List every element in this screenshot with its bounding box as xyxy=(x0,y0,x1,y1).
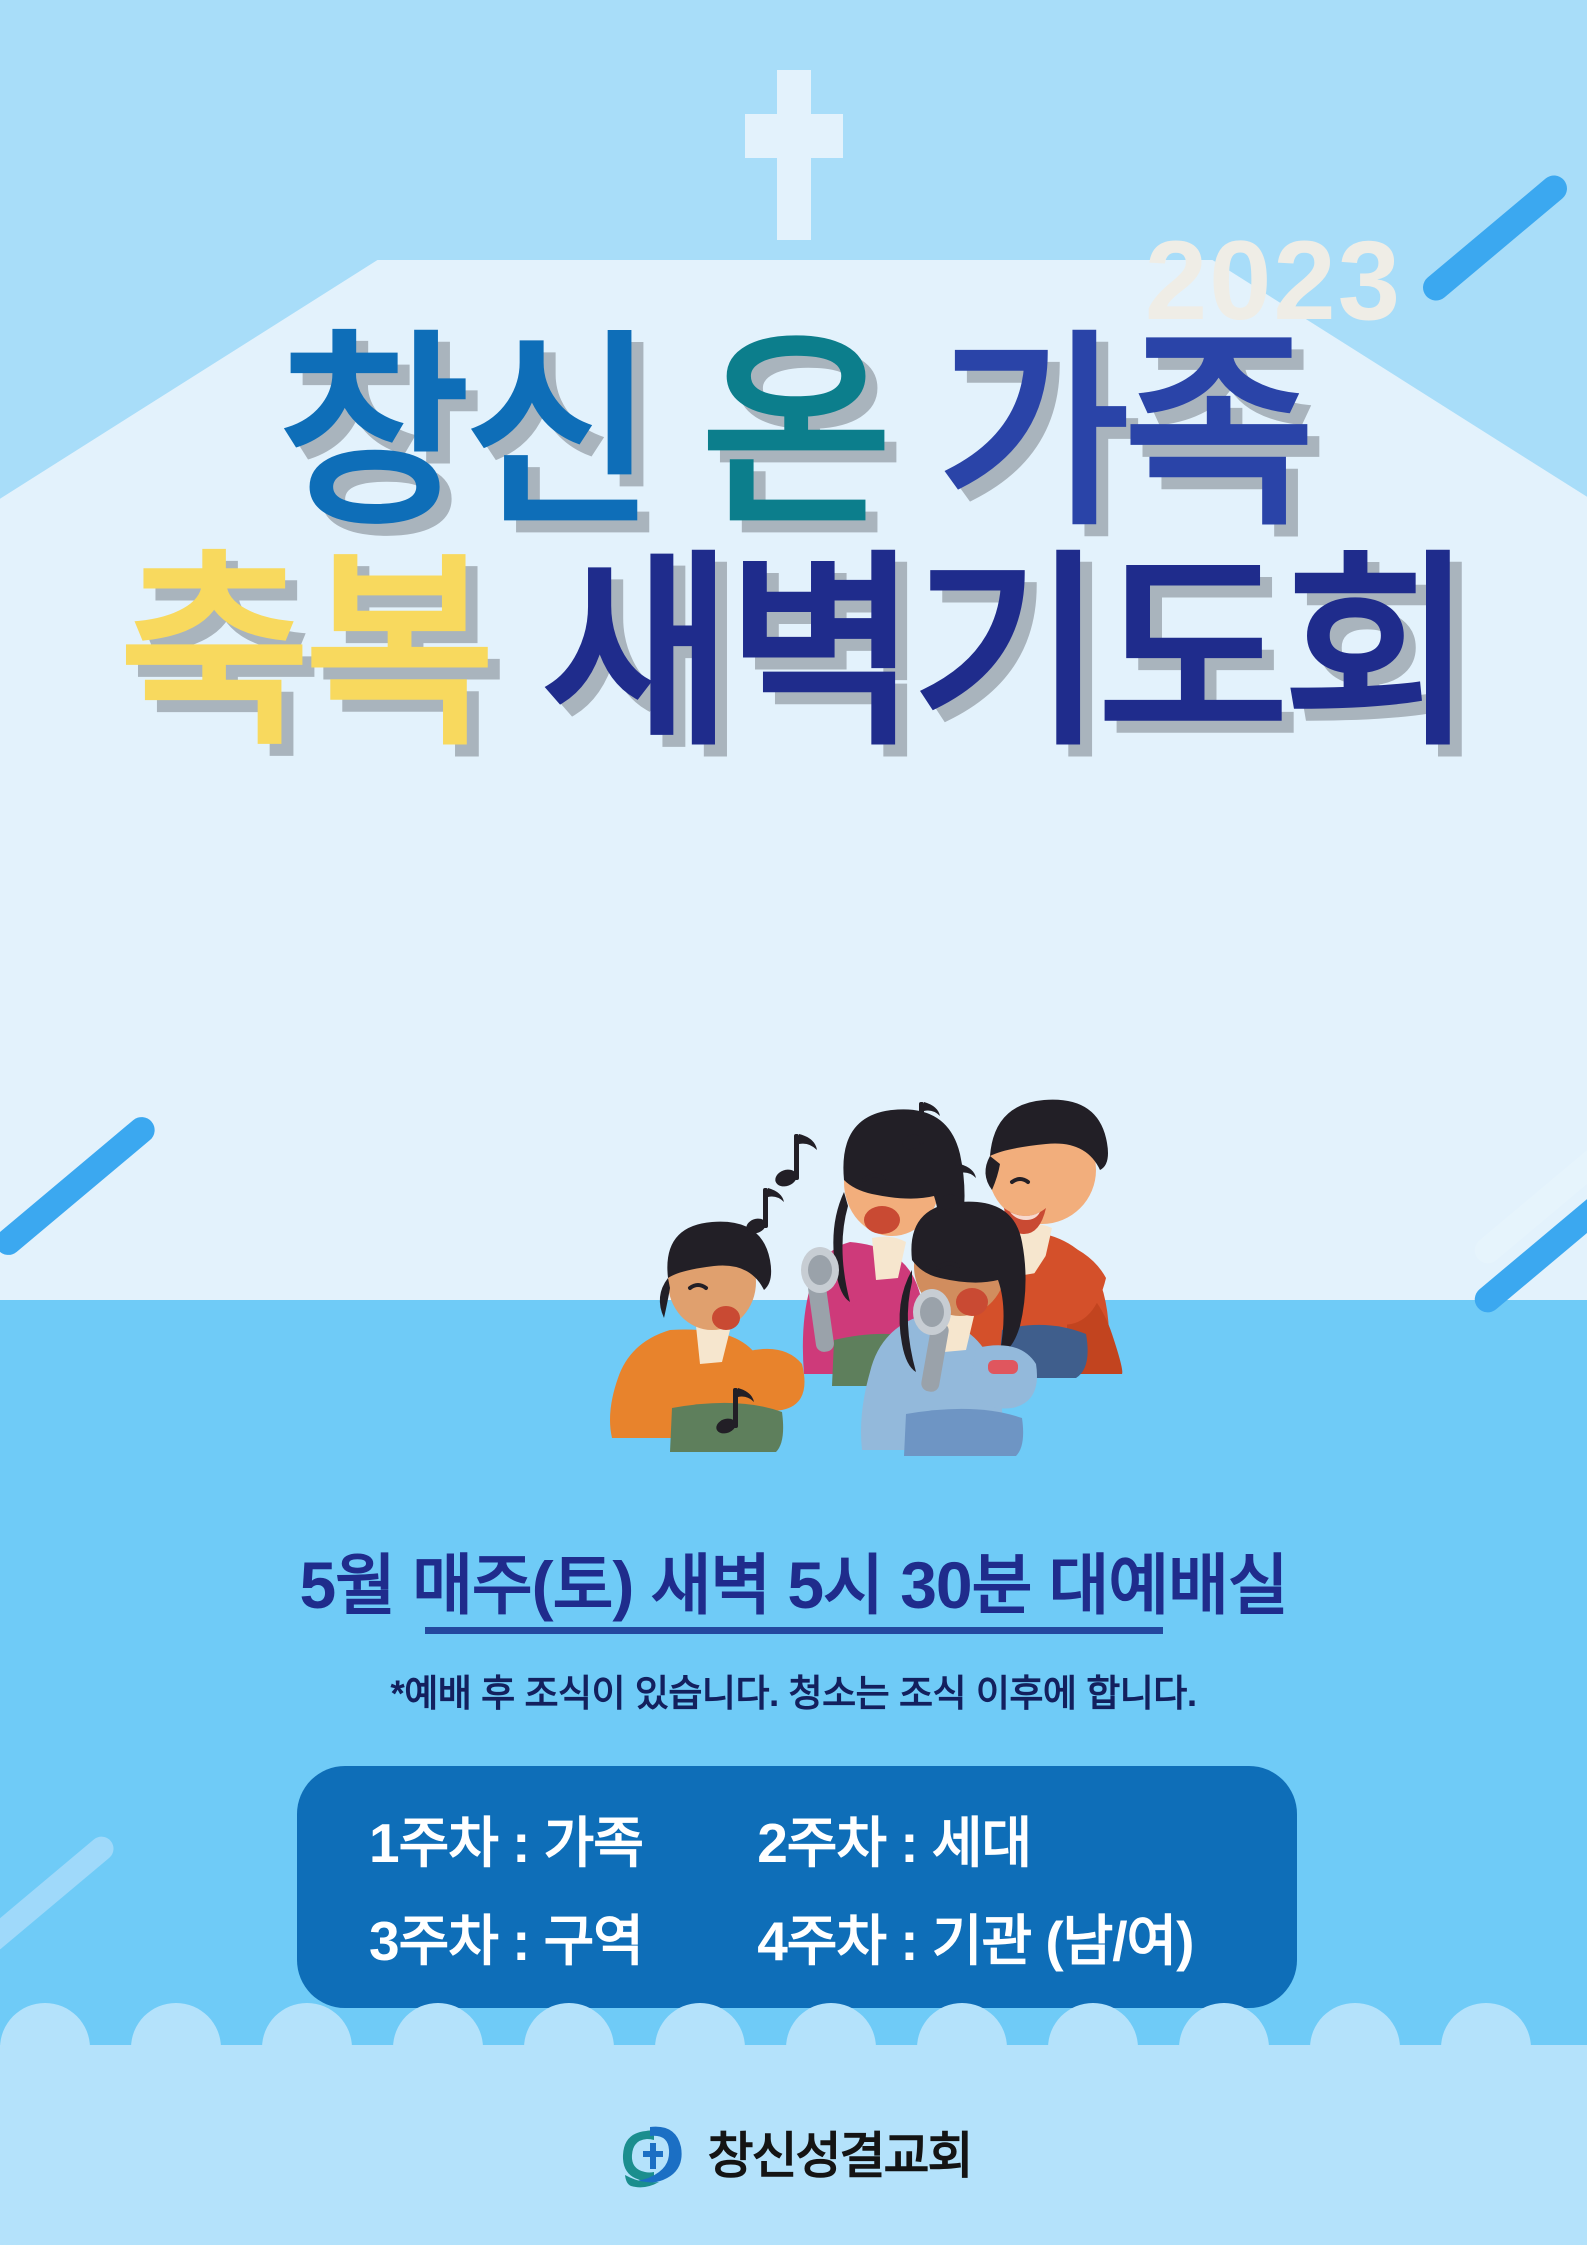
family-singing-illustration xyxy=(420,1030,1180,1460)
schedule-week-4: 4주차 : 기관 (남/여) xyxy=(757,1896,1225,1976)
title-part-on: 온 xyxy=(701,318,886,550)
schedule-week-1: 1주차 : 가족 xyxy=(369,1798,757,1878)
scallop-bump xyxy=(393,2003,483,2049)
page-title: 창신 온 가족 축복 새벽기도회 xyxy=(0,330,1587,758)
poster-canvas: 2023 창신 온 가족 축복 새벽기도회 xyxy=(0,0,1587,2245)
event-note: *예배 후 조식이 있습니다. 청소는 조식 이후에 합니다. xyxy=(0,1663,1587,1717)
title-part-saebyeok: 새벽기도회 xyxy=(541,538,1468,770)
title-line-1: 창신 온 가족 xyxy=(0,330,1587,538)
decorative-stripe xyxy=(1418,170,1573,306)
schedule-row: 1주차 : 가족 2주차 : 세대 xyxy=(369,1789,1225,1887)
scallop-bump xyxy=(0,2003,90,2049)
scallop-bump xyxy=(1179,2003,1269,2049)
title-part-changsin: 창신 xyxy=(278,318,649,550)
scallop-bump xyxy=(262,2003,352,2049)
event-datetime: 5월 매주(토) 새벽 5시 30분 대예배실 xyxy=(0,1532,1587,1628)
scallop-bump xyxy=(1441,2003,1531,2049)
scallop-bump xyxy=(131,2003,221,2049)
scallop-edge xyxy=(0,2003,1587,2049)
schedule-row: 3주차 : 구역 4주차 : 기관 (남/여) xyxy=(369,1887,1225,1985)
schedule-week-2: 2주차 : 세대 xyxy=(757,1798,1225,1878)
church-name: 창신성결교회 xyxy=(708,2131,972,2181)
schedule-week-3: 3주차 : 구역 xyxy=(369,1896,757,1976)
scallop-bump xyxy=(524,2003,614,2049)
scallop-bump xyxy=(655,2003,745,2049)
scallop-bump xyxy=(1048,2003,1138,2049)
church-logo: 창신성결교회 xyxy=(0,2119,1587,2193)
weekly-schedule-box: 1주차 : 가족 2주차 : 세대 3주차 : 구역 4주차 : 기관 (남/여… xyxy=(297,1766,1297,2008)
scallop-bump xyxy=(917,2003,1007,2049)
title-part-chukbok: 축복 xyxy=(119,538,490,770)
divider xyxy=(425,1627,1163,1634)
church-swoosh-cross-logo-icon xyxy=(616,2119,690,2193)
title-line-2: 축복 새벽기도회 xyxy=(0,550,1587,758)
cross-icon xyxy=(777,70,811,240)
scallop-bump xyxy=(786,2003,876,2049)
title-part-gajok: 가족 xyxy=(938,318,1309,550)
scallop-bump xyxy=(1310,2003,1400,2049)
